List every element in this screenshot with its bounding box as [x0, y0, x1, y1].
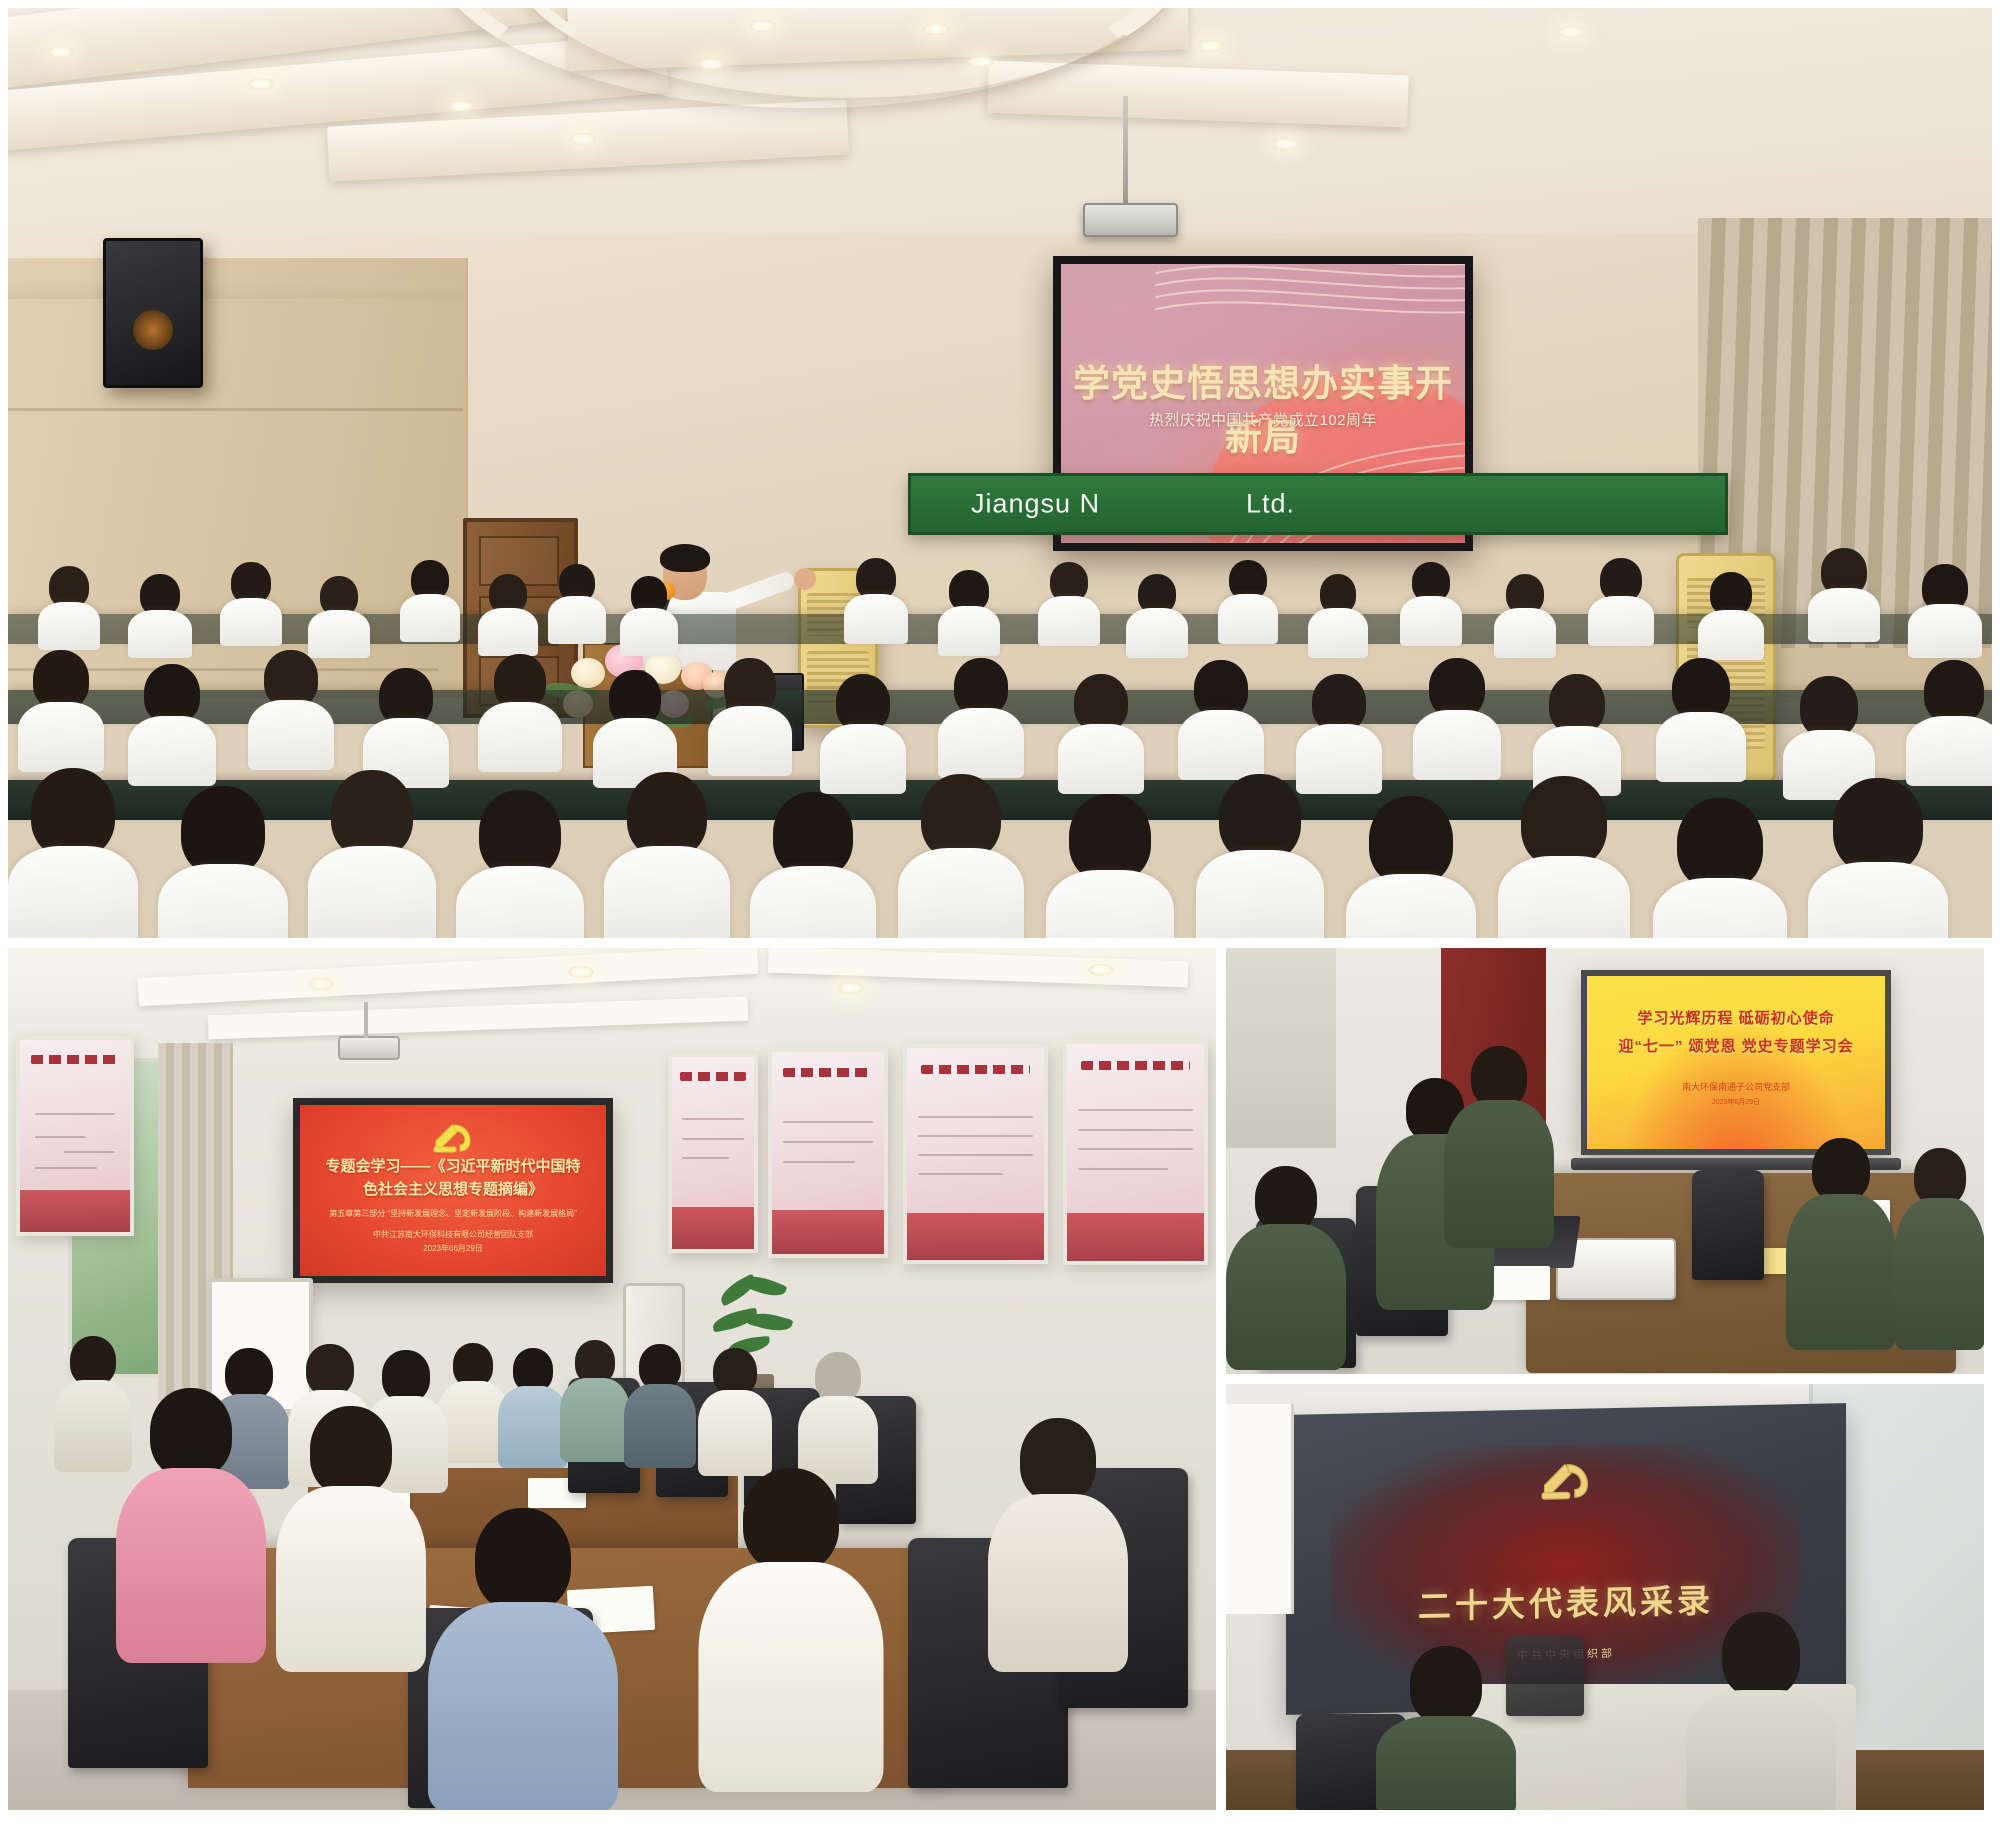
attendee: [1698, 572, 1764, 660]
tr-screen-line1: 学习光辉历程 砥砺初心使命: [1602, 1007, 1870, 1028]
attendee: [1196, 774, 1324, 938]
attendee: [938, 570, 1000, 654]
tr-screen-date: 2023年6月29日: [1602, 1097, 1870, 1107]
bl-screen-org: 中共江苏南大环保科技有限公司经营团队支部 2023年06月29日: [318, 1228, 587, 1255]
projection-screen-top-right: 学习光辉历程 砥砺初心使命 迎“七一” 颂党恩 党史专题学习会 南大环保南通子公…: [1581, 970, 1891, 1155]
banner-text-left: Jiangsu N: [971, 489, 1100, 520]
attendee: [1656, 658, 1746, 782]
projector-mount-bl: [364, 1002, 368, 1038]
attendee: [1126, 574, 1188, 658]
ceiling-projector-bl: [338, 1036, 400, 1060]
attendee: [1808, 778, 1948, 938]
screen-subtitle-text: 热烈庆祝中国共产党成立102周年: [1061, 409, 1465, 430]
bl-screen-chapter: 第五章第三部分 “坚持新发展理念、坚定新发展阶段、构建新发展格局”: [318, 1208, 587, 1221]
wall-poster-2: [768, 1048, 888, 1258]
meeting-participant: [798, 1352, 878, 1484]
attendee: [158, 786, 288, 938]
wall-speaker: [103, 238, 203, 388]
attendee: [604, 772, 730, 938]
meeting-participant: [624, 1344, 696, 1468]
attendee: [478, 574, 538, 654]
screen-title-text: 学党史悟思想办实事开新局: [1061, 353, 1465, 461]
attendee: [1588, 558, 1654, 646]
attendee: [1494, 574, 1556, 658]
meeting-participant-foreground: [988, 1418, 1128, 1668]
participant-green-uniform-speaking: [1444, 1046, 1554, 1246]
projector-mount: [1123, 96, 1128, 206]
attendee: [750, 792, 876, 938]
ceiling-projector: [1083, 203, 1178, 237]
banner-text-right: Ltd.: [1246, 489, 1295, 520]
attendee: [548, 564, 606, 644]
wall-poster-4: [1063, 1040, 1208, 1265]
attendee: [1346, 796, 1476, 938]
participant-green-uniform: [1894, 1148, 1984, 1348]
attendee: [1906, 660, 1992, 786]
meeting-participant: [560, 1340, 630, 1462]
viewer-green-uniform: [1686, 1612, 1836, 1810]
meeting-participant-foreground: [698, 1468, 883, 1788]
attendee: [1653, 798, 1787, 938]
attendee: [1058, 674, 1144, 794]
attendee: [938, 658, 1024, 778]
attendee: [478, 654, 562, 774]
attendee: [1808, 548, 1880, 640]
attendee: [1038, 562, 1100, 646]
wall-poster-3: [903, 1044, 1048, 1264]
meeting-participant: [498, 1348, 568, 1468]
attendee: [400, 560, 460, 640]
photo-panel-bottom-left-conference: 专题会学习——《习近平新时代中国特 色社会主义思想专题摘编》 第五章第三部分 “…: [8, 948, 1216, 1810]
office-chair-br[interactable]: [1506, 1636, 1584, 1716]
tr-screen-line2: 迎“七一” 颂党恩 党史专题学习会: [1602, 1035, 1870, 1056]
attendee: [308, 576, 370, 656]
projection-screen-bottom-left: 专题会学习——《习近平新时代中国特 色社会主义思想专题摘编》 第五章第三部分 “…: [293, 1098, 613, 1283]
bottom-panels-row: 专题会学习——《习近平新时代中国特 色社会主义思想专题摘编》 第五章第三部分 “…: [8, 948, 1992, 1810]
meeting-participant-foreground: [116, 1388, 266, 1658]
photo-collage: 学党史悟思想办实事开新局 热烈庆祝中国共产党成立102周年 Jiangsu N …: [0, 0, 2000, 1826]
attendee: [1498, 776, 1630, 938]
meeting-participant: [698, 1348, 772, 1476]
attendee: [1178, 660, 1264, 780]
attendee: [38, 566, 100, 646]
attendee: [844, 558, 908, 642]
attendee: [1400, 562, 1462, 646]
attendee: [8, 768, 138, 938]
participant-green-uniform: [1786, 1138, 1896, 1348]
participant-green-uniform: [1226, 1166, 1346, 1366]
attendee: [248, 650, 334, 770]
attendee: [708, 658, 792, 778]
tr-screen-org: 南大环保南通子公司党支部: [1602, 1080, 1870, 1093]
attendee: [1308, 574, 1368, 658]
audience-area: [8, 518, 1992, 938]
attendee: [620, 576, 678, 656]
viewer-green-uniform: [1376, 1646, 1516, 1810]
attendee: [220, 562, 282, 642]
attendee: [1908, 564, 1982, 656]
attendee: [128, 574, 192, 654]
wall-segment: [1226, 948, 1336, 1148]
attendee: [308, 770, 436, 938]
screen-background-tr: [1587, 976, 1885, 1149]
attendee: [128, 664, 216, 784]
attendee: [820, 674, 906, 794]
party-emblem-icon: [430, 1119, 476, 1157]
attendee: [456, 790, 584, 938]
wall-poster-org-chart: [16, 1036, 134, 1236]
photo-panel-bottom-right-video: 二十大代表风采录 中共中央组织部: [1226, 1384, 1984, 1810]
attendee: [898, 774, 1024, 938]
wall-whiteboard-br: [1226, 1404, 1294, 1614]
bl-screen-title: 专题会学习——《习近平新时代中国特 色社会主义思想专题摘编》: [312, 1156, 594, 1201]
right-panels-column: 学习光辉历程 砥砺初心使命 迎“七一” 颂党恩 党史专题学习会 南大环保南通子公…: [1226, 948, 1984, 1810]
ceiling: [8, 8, 1992, 258]
meeting-participant-foreground: [276, 1406, 426, 1668]
meeting-participant-foreground: [428, 1508, 618, 1808]
attendee: [1046, 794, 1174, 938]
attendee: [1413, 658, 1501, 780]
office-chair-tr[interactable]: [1692, 1170, 1764, 1280]
photo-panel-top-right-small-meeting: 学习光辉历程 砥砺初心使命 迎“七一” 颂党恩 党史专题学习会 南大环保南通子公…: [1226, 948, 1984, 1374]
party-emblem-icon-br: [1537, 1456, 1595, 1505]
wall-poster-1: [668, 1053, 758, 1253]
attendee: [18, 650, 104, 770]
attendee: [1218, 560, 1278, 644]
photo-panel-top-auditorium: 学党史悟思想办实事开新局 热烈庆祝中国共产党成立102周年 Jiangsu N …: [8, 8, 1992, 938]
